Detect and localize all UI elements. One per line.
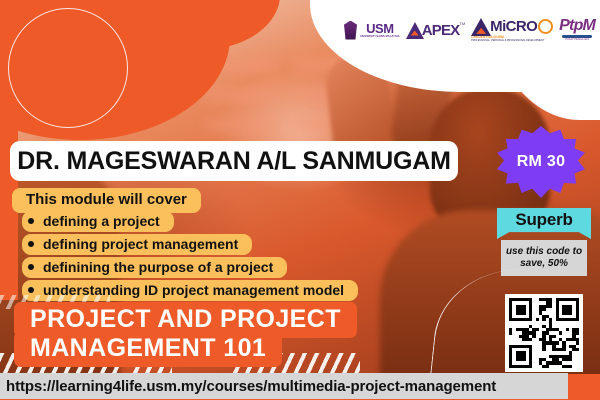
micro-logo-text: MiCRO [490, 19, 537, 34]
usm-logo-subtitle: UNIVERSITI SAINS MALAYSIA [360, 36, 400, 39]
micro-logo-tagline: PROFESSIONAL, PERSONAL & PROFESSIONAL DE… [471, 40, 544, 42]
apex-logo: APEX TM [406, 22, 465, 39]
module-heading-pill: This module will cover [12, 188, 201, 213]
module-heading-text: This module will cover [26, 191, 187, 208]
apex-trademark-mark: TM [459, 22, 465, 26]
price-badge-text: RM 30 [517, 153, 566, 171]
course-title-text-1: PROJECT AND PROJECT [30, 305, 341, 333]
micro-credential-logo: MiCRO CREDENTIAL@USM PROFESSIONAL, PERSO… [471, 18, 553, 42]
ptpm-logo-subtitle: PUSAT PENGAJIAN [565, 39, 589, 42]
apex-logo-text: APEX [422, 23, 460, 38]
list-item: defining project management [22, 234, 252, 255]
ptpm-logo: PtpM PUSAT PENGAJIAN [559, 18, 595, 42]
apex-triangle-icon [406, 22, 424, 39]
coupon-code-text: Superb [515, 210, 572, 230]
micro-triangle-icon [471, 18, 491, 36]
micro-circle-icon [538, 19, 553, 34]
module-bullet-text: defining project management [43, 236, 238, 252]
usm-logo: USM UNIVERSITI SAINS MALAYSIA [344, 21, 400, 40]
bullet-dot-icon [28, 287, 34, 293]
list-item: defining a project [22, 211, 174, 232]
partner-logo-row: USM UNIVERSITI SAINS MALAYSIA APEX TM Mi… [344, 12, 592, 48]
course-title-line-2: MANAGEMENT 101 [14, 331, 282, 367]
module-bullet-text: definining the purpose of a project [43, 259, 273, 275]
course-title-text-2: MANAGEMENT 101 [30, 334, 266, 362]
bullet-dot-icon [28, 241, 34, 247]
coupon-description-text: use this code to save, 50% [501, 246, 587, 271]
module-bullet-text: defining a project [43, 213, 160, 229]
course-url-text: https://learning4life.usm.my/courses/mul… [0, 378, 496, 395]
speaker-name-text: DR. MAGESWARAN A/L SANMUGAM [17, 147, 450, 176]
usm-logo-text: USM [366, 22, 393, 35]
ptpm-logo-text: PtpM [559, 18, 595, 34]
course-url-bar[interactable]: https://learning4life.usm.my/courses/mul… [0, 373, 568, 399]
course-promo-poster: USM UNIVERSITI SAINS MALAYSIA APEX TM Mi… [0, 0, 600, 400]
circle-outline-decoration [8, 8, 128, 128]
list-item: definining the purpose of a project [22, 257, 287, 278]
bullet-dot-icon [28, 218, 34, 224]
qr-code-pattern [509, 298, 579, 368]
qr-code[interactable] [505, 294, 583, 372]
usm-crest-icon [344, 21, 357, 40]
module-bullet-list: defining a project defining project mana… [22, 211, 358, 301]
bullet-dot-icon [28, 264, 34, 270]
speaker-name-banner: DR. MAGESWARAN A/L SANMUGAM [10, 141, 458, 181]
